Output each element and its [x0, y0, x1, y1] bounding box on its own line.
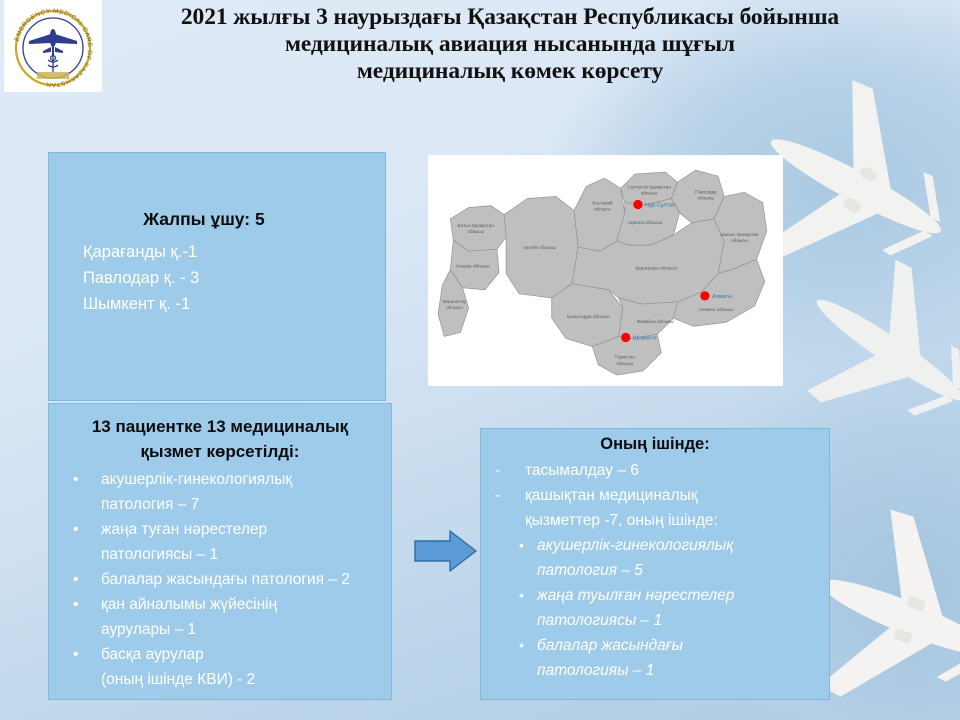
map-marker-nur-sultan — [633, 200, 642, 209]
bullet-icon: • — [519, 633, 524, 658]
list-item-line: қызметтер -7, оның ішінде: — [525, 512, 718, 529]
list-item: • жаңа туған нәрестелер — [63, 517, 385, 542]
svg-text:Атырау облысы: Атырау облысы — [456, 263, 491, 268]
patients-list: • акушерлік-гинекологиялық патология – 7… — [49, 467, 391, 692]
svg-text:облысы: облысы — [616, 361, 633, 366]
sub-list-item-line: балалар жасындағы — [537, 637, 683, 654]
list-item-continuation: патология – 7 — [63, 492, 385, 517]
list-item-line: (оның ішінде КВИ) - 2 — [101, 671, 255, 688]
map-label-nur-sultan: Нұр-Сұлтан — [645, 203, 675, 209]
sub-list-item-continuation: патологияы – 1 — [489, 658, 823, 683]
svg-text:облысы: облысы — [698, 196, 715, 201]
sub-list-item-line: акушерлік-гинекологиялық — [537, 537, 734, 554]
patients-heading-line-2: қызмет көрсетілді: — [63, 439, 377, 464]
svg-text:Қостанай: Қостанай — [592, 200, 612, 206]
list-item: • қан айналымы жүйесінің — [63, 592, 385, 617]
list-item-line: қашықтан медициналық — [525, 487, 698, 504]
flights-heading: Жалпы ұшу: 5 — [49, 209, 385, 230]
bullet-icon: • — [73, 517, 78, 542]
sub-list-item-continuation: патологиясы – 1 — [489, 608, 823, 633]
svg-text:Қызылорда облысы: Қызылорда облысы — [567, 314, 610, 319]
list-item-line: басқа аурулар — [101, 646, 204, 663]
svg-text:Түркістан: Түркістан — [615, 355, 636, 360]
sub-list-item-line: патология – 5 — [537, 562, 643, 579]
svg-text:Павлодар: Павлодар — [695, 189, 717, 194]
dash-icon: - — [495, 483, 500, 508]
flights-summary-box: Жалпы ұшу: 5 Қарағанды қ.-1 Павлодар қ. … — [48, 152, 386, 401]
list-item: - қашықтан медициналық — [489, 483, 823, 508]
bullet-icon: • — [519, 533, 524, 558]
list-item: Шымкент қ. -1 — [83, 291, 385, 317]
page-title: 2021 жылғы 3 наурыздағы Қазақстан Респуб… — [104, 4, 916, 85]
list-item: • акушерлік-гинекологиялық — [63, 467, 385, 492]
title-line-2: медициналық авиация нысанында шұғыл — [104, 31, 916, 58]
bullet-icon: • — [519, 583, 524, 608]
list-item-line: балалар жасындағы патология – 2 — [101, 571, 350, 588]
list-item: Қарағанды қ.-1 — [83, 239, 385, 265]
breakdown-box: Оның ішінде: - тасымалдау – 6 - қашықтан… — [480, 428, 830, 700]
sub-list-item: • акушерлік-гинекологиялық — [489, 533, 823, 558]
slide-canvas: EMERGENCY MEDICAL CARE OF KAZAKHSTAN 202… — [0, 0, 960, 720]
map-label-shymkent: Шымкент — [633, 335, 657, 341]
patients-heading-line-1: 13 пациентке 13 медициналық — [63, 414, 377, 439]
svg-text:Батыс Қазақстан: Батыс Қазақстан — [458, 223, 495, 228]
svg-text:Шығыс Қазақстан: Шығыс Қазақстан — [720, 232, 758, 237]
svg-text:Алматы облысы: Алматы облысы — [699, 307, 735, 312]
svg-text:облысы: облысы — [594, 207, 611, 212]
bullet-icon: • — [73, 642, 78, 667]
svg-text:облысы: облысы — [731, 238, 748, 243]
map-label-almaty: Алматы — [712, 294, 732, 300]
kazakhstan-map-card: Батыс Қазақстаноблысы Атырау облысы Маңғ… — [428, 155, 783, 386]
patients-heading: 13 пациентке 13 медициналық қызмет көрсе… — [63, 414, 377, 464]
map-marker-shymkent — [621, 333, 630, 342]
toy-airplane-mid-right — [790, 250, 960, 450]
svg-text:Солтүстік Қазақстан: Солтүстік Қазақстан — [627, 184, 671, 189]
bullet-icon: • — [73, 592, 78, 617]
list-item-continuation: аурулары – 1 — [63, 617, 385, 642]
list-item-line: аурулары – 1 — [101, 621, 196, 638]
kazakhstan-regions-map-icon: Батыс Қазақстаноблысы Атырау облысы Маңғ… — [428, 155, 783, 386]
list-item: • басқа аурулар — [63, 642, 385, 667]
svg-text:Маңғыстау: Маңғыстау — [443, 299, 467, 304]
list-item-line: тасымалдау – 6 — [525, 462, 639, 479]
svg-text:облысы: облысы — [641, 190, 658, 195]
svg-text:облысы: облысы — [467, 229, 484, 234]
dash-icon: - — [495, 458, 500, 483]
bullet-icon: • — [73, 467, 78, 492]
list-item-line: патологиясы – 1 — [101, 546, 218, 563]
list-item-line: акушерлік-гинекологиялық — [101, 471, 292, 488]
svg-text:облысы: облысы — [446, 305, 463, 310]
list-item-line: жаңа туған нәрестелер — [101, 521, 267, 538]
organization-logo: EMERGENCY MEDICAL CARE OF KAZAKHSTAN — [4, 0, 102, 92]
sub-list-item-line: патологияы – 1 — [537, 662, 654, 679]
list-item: - тасымалдау – 6 — [489, 458, 823, 483]
list-item-continuation: қызметтер -7, оның ішінде: — [489, 508, 823, 533]
patients-summary-box: 13 пациентке 13 медициналық қызмет көрсе… — [48, 403, 392, 700]
flights-list: Қарағанды қ.-1 Павлодар қ. - 3 Шымкент қ… — [49, 239, 385, 317]
map-marker-almaty — [700, 291, 709, 300]
sub-list-item-line: жаңа туылған нәрестелер — [537, 587, 735, 604]
right-arrow — [412, 528, 480, 574]
sub-list-item: • балалар жасындағы — [489, 633, 823, 658]
svg-text:Жамбыл облысы: Жамбыл облысы — [637, 319, 675, 324]
breakdown-heading: Оның ішінде: — [481, 435, 829, 454]
list-item-line: патология – 7 — [101, 496, 199, 513]
list-item: • балалар жасындағы патология – 2 — [63, 567, 385, 592]
title-line-3: медициналық көмек көрсету — [104, 58, 916, 85]
svg-text:Қарағанды облысы: Қарағанды облысы — [635, 265, 677, 270]
list-item-continuation: (оның ішінде КВИ) - 2 — [63, 667, 385, 692]
sub-list-item-line: патологиясы – 1 — [537, 612, 662, 629]
sub-list-item-continuation: патология – 5 — [489, 558, 823, 583]
sub-list-item: • жаңа туылған нәрестелер — [489, 583, 823, 608]
bullet-icon: • — [73, 567, 78, 592]
svg-text:Ақтөбе облысы: Ақтөбе облысы — [523, 245, 557, 250]
title-line-1: 2021 жылғы 3 наурыздағы Қазақстан Респуб… — [104, 4, 916, 31]
emergency-medical-aviation-logo-icon: EMERGENCY MEDICAL CARE OF KAZAKHSTAN — [7, 2, 99, 90]
list-item-continuation: патологиясы – 1 — [63, 542, 385, 567]
svg-text:Ақмола облысы: Ақмола облысы — [628, 220, 663, 225]
list-item: Павлодар қ. - 3 — [83, 265, 385, 291]
right-arrow-icon — [412, 528, 480, 574]
breakdown-list: - тасымалдау – 6 - қашықтан медициналық … — [481, 458, 829, 683]
list-item-line: қан айналымы жүйесінің — [101, 596, 277, 613]
